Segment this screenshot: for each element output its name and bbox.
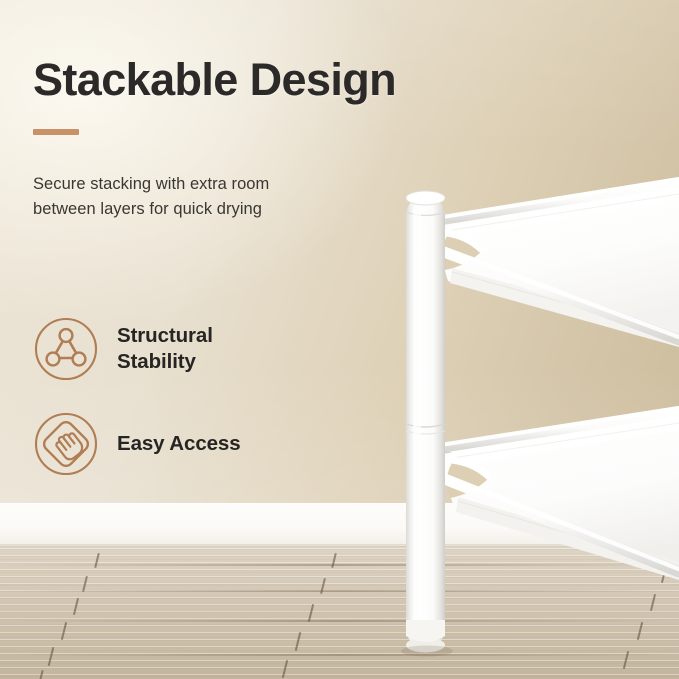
stackable-drying-rack	[0, 0, 679, 679]
vertical-support-post	[406, 191, 445, 653]
product-feature-banner: Stackable Design Secure stacking with ex…	[0, 0, 679, 679]
upper-mesh-shelf	[428, 179, 679, 347]
lower-mesh-shelf	[432, 408, 679, 580]
